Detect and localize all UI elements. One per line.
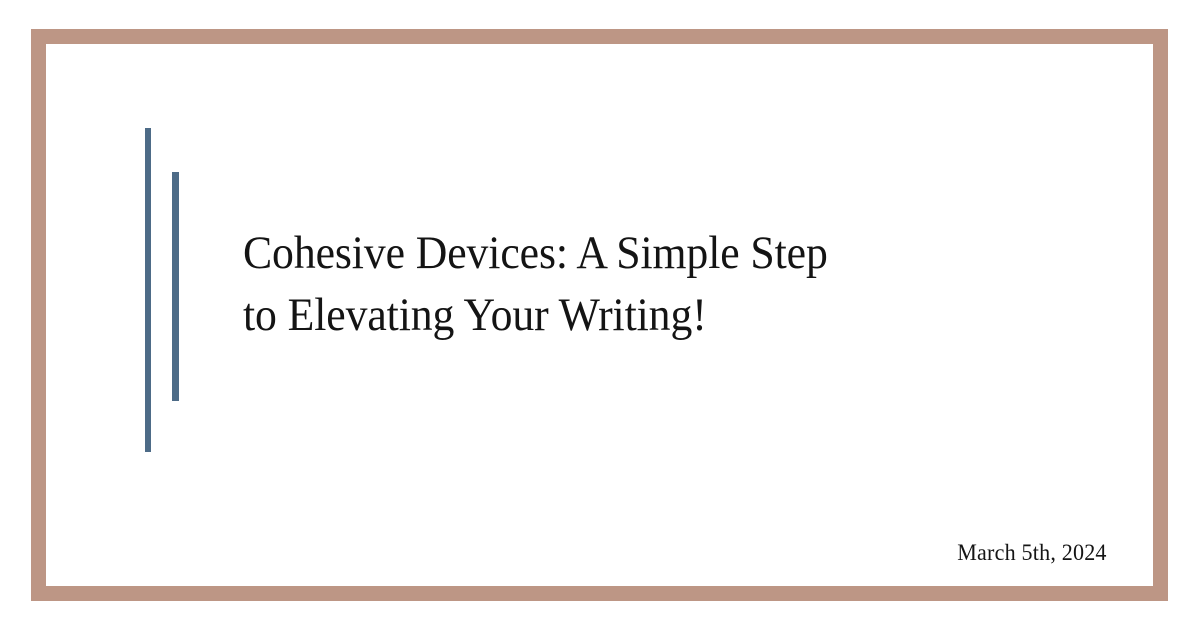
title-card: Cohesive Devices: A Simple Step to Eleva… xyxy=(0,0,1200,630)
publication-date: March 5th, 2024 xyxy=(958,538,1107,568)
page-title: Cohesive Devices: A Simple Step to Eleva… xyxy=(243,222,894,346)
short-vertical-rule xyxy=(172,172,179,401)
long-vertical-rule xyxy=(145,128,151,452)
